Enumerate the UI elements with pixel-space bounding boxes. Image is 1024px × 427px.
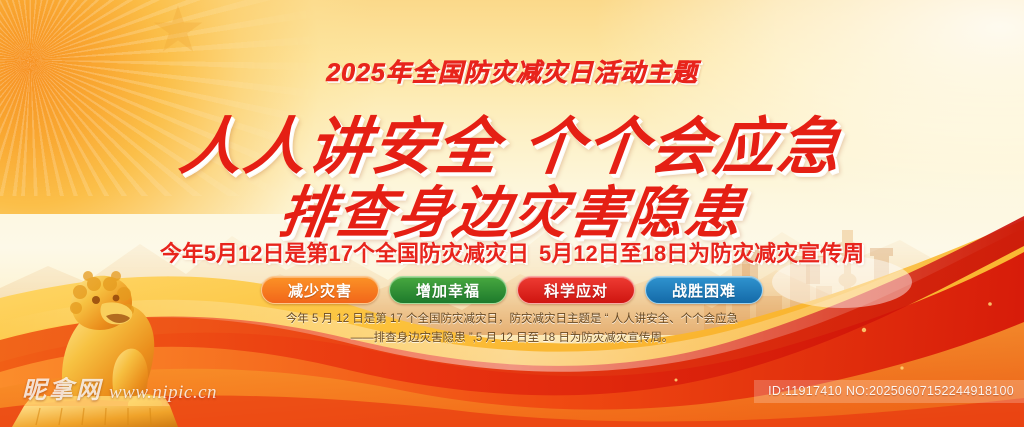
image-id-tag: ID:11917410 NO:20250607152244918100 [754, 380, 1024, 403]
slogan-pill-group: 减少灾害 增加幸福 科学应对 战胜困难 [0, 276, 1024, 304]
event-kicker-title: 2025年全国防灾减灾日活动主题 [0, 53, 1024, 89]
pill-reduce-disaster: 减少灾害 [261, 276, 379, 304]
poster-content: 2025年全国防灾减灾日活动主题 人人讲安全个个会应急 排查身边灾害隐患 今年5… [0, 0, 1024, 427]
pill-overcome-difficulty: 战胜困难 [645, 276, 763, 304]
subline-part-a: 今年5月12日是第17个全国防灾减灾日 [160, 241, 529, 266]
poster-canvas: 2025年全国防灾减灾日活动主题 人人讲安全个个会应急 排查身边灾害隐患 今年5… [0, 0, 1024, 427]
event-date-subline: 今年5月12日是第17个全国防灾减灾日5月12日至18日为防灾减灾宣传周 [0, 236, 1024, 268]
pill-increase-happiness: 增加幸福 [389, 276, 507, 304]
body-paragraph: 今年 5 月 12 日是第 17 个全国防灾减灾日，防灾减灾日主题是 “ 人人讲… [277, 310, 747, 348]
pill-scientific-response: 科学应对 [517, 276, 635, 304]
subline-part-b: 5月12日至18日为防灾减灾宣传周 [539, 241, 864, 266]
